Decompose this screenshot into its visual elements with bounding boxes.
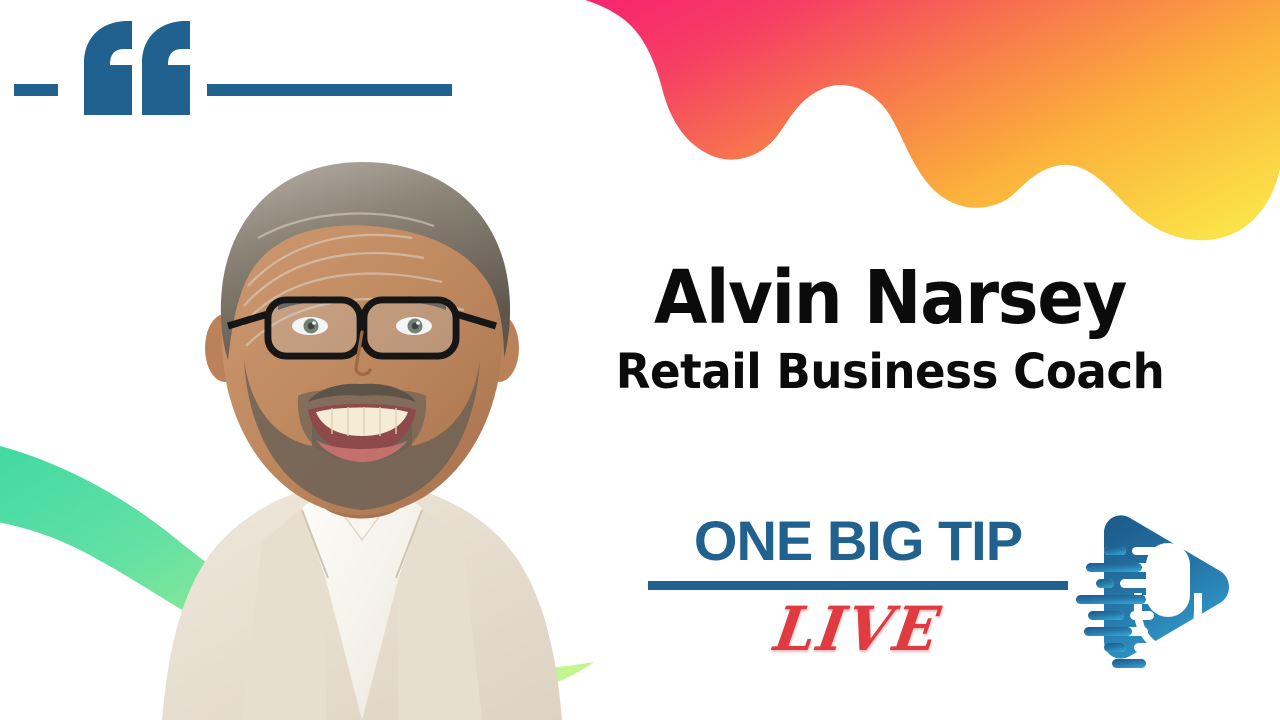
quote-dash [14, 84, 58, 96]
decorative-warm-blob [556, 0, 1280, 246]
logo-wordmark: ONE BIG TIP [648, 513, 1068, 569]
quote-mark-icon [80, 19, 192, 115]
video-frame: Alvin Narsey Retail Business Coach ONE B… [0, 0, 1280, 720]
logo-live-label: LIVE [643, 599, 1073, 660]
logo-divider-rule [648, 581, 1068, 590]
quote-rule [207, 84, 452, 96]
logo-wordmark-group: ONE BIG TIP LIVE [648, 513, 1068, 658]
quote-ornament [0, 14, 470, 114]
speaker-portrait [112, 110, 612, 720]
one-big-tip-live-logo: ONE BIG TIP LIVE [640, 505, 1240, 690]
speaker-name: Alvin Narsey [611, 262, 1169, 335]
speaker-role: Retail Business Coach [608, 347, 1172, 397]
microphone-play-icon [1060, 507, 1236, 683]
speaker-info: Alvin Narsey Retail Business Coach [590, 262, 1190, 397]
